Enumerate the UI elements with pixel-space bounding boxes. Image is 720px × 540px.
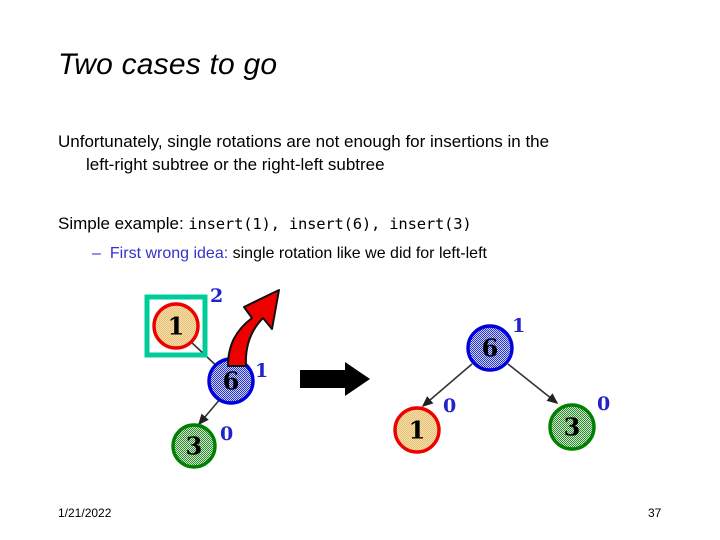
avl-rotation-figure: 1 2 6 1 3 0 bbox=[0, 270, 720, 500]
left-tree-balance-node-6: 1 bbox=[255, 360, 268, 382]
left-tree-node-3[interactable]: 3 bbox=[173, 425, 215, 467]
dash-bullet-marker: – bbox=[92, 245, 110, 262]
page-title: Two cases to go bbox=[58, 48, 277, 82]
left-tree-node-3-key: 3 bbox=[186, 432, 203, 461]
edge-6-to-3-right bbox=[508, 364, 557, 403]
rotation-arrow-icon bbox=[228, 290, 279, 366]
simple-example-label: Simple example: bbox=[58, 214, 184, 233]
right-tree-node-6-key: 6 bbox=[482, 334, 499, 363]
bullet-intro: Unfortunately, single rotations are not … bbox=[58, 130, 658, 176]
bullet-intro-line1: Unfortunately, single rotations are not … bbox=[58, 132, 549, 151]
transform-arrow-icon bbox=[300, 362, 370, 396]
left-tree-node-1-key: 1 bbox=[168, 312, 185, 341]
footer-date: 1/21/2022 bbox=[58, 506, 111, 520]
left-tree-node-1[interactable]: 1 bbox=[154, 304, 198, 348]
left-tree-balance-node-1: 2 bbox=[210, 285, 223, 307]
right-tree-node-3[interactable]: 3 bbox=[550, 405, 594, 449]
right-tree-node-3-key: 3 bbox=[564, 413, 581, 442]
sub-bullet-first-wrong-idea: –First wrong idea: single rotation like … bbox=[92, 242, 672, 265]
right-tree-after-rotation: 6 1 1 0 3 0 bbox=[395, 315, 610, 452]
first-wrong-idea-rest: single rotation like we did for left-lef… bbox=[233, 245, 487, 262]
insert-sequence-code: insert(1), insert(6), insert(3) bbox=[188, 215, 471, 233]
left-tree-before-rotation: 1 2 6 1 3 0 bbox=[147, 285, 279, 467]
right-tree-balance-node-3: 0 bbox=[597, 393, 610, 415]
bullet-simple-example: Simple example: insert(1), insert(6), in… bbox=[58, 212, 658, 236]
right-tree-node-1-key: 1 bbox=[409, 416, 426, 445]
bullet-intro-line2: left-right subtree or the right-left sub… bbox=[58, 153, 658, 176]
footer-page-number: 37 bbox=[648, 506, 661, 520]
first-wrong-idea-label: First wrong idea: bbox=[110, 245, 228, 262]
left-tree-node-6-key: 6 bbox=[223, 367, 240, 396]
right-tree-balance-node-1: 0 bbox=[443, 395, 456, 417]
edge-6-to-3 bbox=[199, 398, 221, 424]
right-tree-balance-node-6: 1 bbox=[512, 315, 525, 337]
right-tree-node-6[interactable]: 6 bbox=[468, 326, 512, 370]
left-tree-balance-node-3: 0 bbox=[220, 423, 233, 445]
slide-canvas: Two cases to go Unfortunately, single ro… bbox=[0, 0, 720, 540]
right-tree-node-1[interactable]: 1 bbox=[395, 408, 439, 452]
